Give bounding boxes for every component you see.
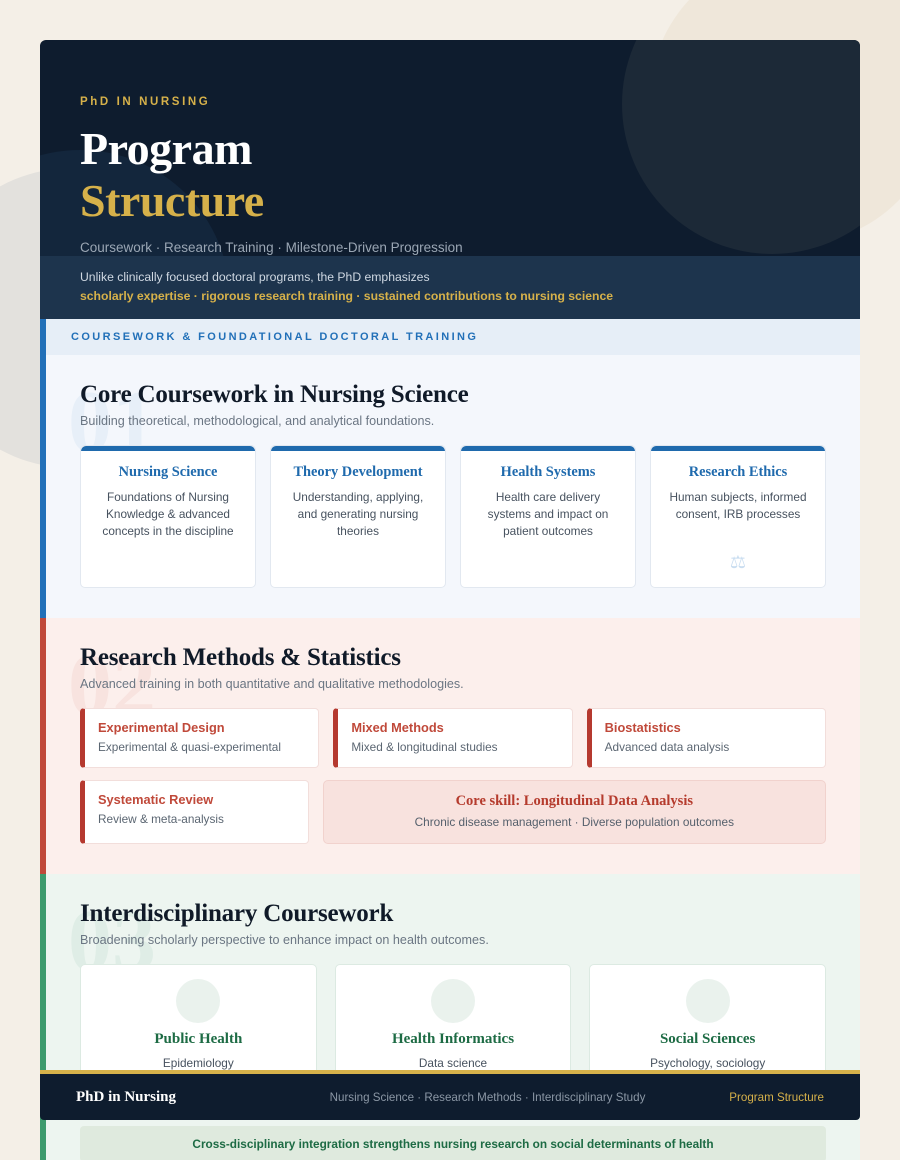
emphasis-banner: Unlike clinically focused doctoral progr… [40,256,860,319]
core-card-title: Health Systems [473,464,623,481]
core-skill-callout: Core skill: Longitudinal Data Analysis C… [323,780,826,844]
hero-eyebrow: PhD IN NURSING [80,96,820,108]
section-title-core: Core Coursework in Nursing Science [80,381,826,409]
core-card-desc: Health care delivery systems and impact … [473,489,623,540]
methods-card-mixed-methods[interactable]: Mixed Methods Mixed & longitudinal studi… [333,708,572,768]
circle-placeholder-icon [686,979,730,1023]
interdisciplinary-card-title: Social Sciences [604,1031,811,1048]
core-card-grid: Nursing Science Foundations of Nursing K… [80,445,826,588]
hero-title-line2: Structure [80,176,820,227]
scales-balance-icon: ⚖ [651,552,825,573]
methods-card-row-1: Experimental Design Experimental & quasi… [80,708,826,768]
core-card-title: Nursing Science [93,464,243,481]
section-subtitle-methods: Advanced training in both quantitative a… [80,677,826,691]
section-title-methods: Research Methods & Statistics [80,644,826,672]
interdisciplinary-card-title: Health Informatics [350,1031,557,1048]
methods-card-desc: Experimental & quasi-experimental [98,740,304,754]
section-research-methods: 02 Research Methods & Statistics Advance… [40,618,860,874]
hero-section: PhD IN NURSING Program Structure Coursew… [40,40,860,256]
methods-card-row-2: Systematic Review Review & meta-analysis… [80,780,826,844]
footer-page-label: Program Structure [674,1091,824,1104]
methods-card-biostatistics[interactable]: Biostatistics Advanced data analysis [587,708,826,768]
emphasis-banner-line1: Unlike clinically focused doctoral progr… [80,270,820,284]
methods-card-desc: Mixed & longitudinal studies [351,740,557,754]
methods-card-desc: Advanced data analysis [605,740,811,754]
footer-brand: PhD in Nursing [76,1089,301,1106]
core-card-title: Theory Development [283,464,433,481]
section-core-coursework: 01 Core Coursework in Nursing Science Bu… [40,355,860,618]
methods-card-experimental-design[interactable]: Experimental Design Experimental & quasi… [80,708,319,768]
core-card-nursing-science[interactable]: Nursing Science Foundations of Nursing K… [80,445,256,588]
methods-card-title: Mixed Methods [351,720,557,735]
circle-placeholder-icon [431,979,475,1023]
section-title-interdisciplinary: Interdisciplinary Coursework [80,900,826,928]
hero-title-line1: Program [80,124,820,174]
section-band-header: COURSEWORK & FOUNDATIONAL DOCTORAL TRAIN… [40,319,860,355]
methods-card-title: Biostatistics [605,720,811,735]
methods-card-title: Systematic Review [98,792,294,807]
core-card-desc: Human subjects, informed consent, IRB pr… [663,489,813,523]
core-card-title: Research Ethics [663,464,813,481]
circle-placeholder-icon [176,979,220,1023]
page-footer: PhD in Nursing Nursing Science · Researc… [40,1070,860,1120]
hero-subtitle: Coursework · Research Training · Milesto… [80,240,820,255]
section-subtitle-interdisciplinary: Broadening scholarly perspective to enha… [80,933,826,947]
interdisciplinary-card-title: Public Health [95,1031,302,1048]
core-card-theory-development[interactable]: Theory Development Understanding, applyi… [270,445,446,588]
section-subtitle-core: Building theoretical, methodological, an… [80,414,826,428]
footer-keywords: Nursing Science · Research Methods · Int… [301,1091,674,1104]
core-skill-desc: Chronic disease management · Diverse pop… [338,815,811,829]
core-skill-title: Core skill: Longitudinal Data Analysis [338,793,811,810]
section-band-label: COURSEWORK & FOUNDATIONAL DOCTORAL TRAIN… [71,331,860,343]
emphasis-banner-line2: scholarly expertise · rigorous research … [80,289,820,303]
methods-card-systematic-review[interactable]: Systematic Review Review & meta-analysis [80,780,309,844]
methods-card-title: Experimental Design [98,720,304,735]
methods-card-desc: Review & meta-analysis [98,812,294,826]
core-card-desc: Foundations of Nursing Knowledge & advan… [93,489,243,540]
core-card-research-ethics[interactable]: Research Ethics Human subjects, informed… [650,445,826,588]
core-card-health-systems[interactable]: Health Systems Health care delivery syst… [460,445,636,588]
page-root: PhD IN NURSING Program Structure Coursew… [0,0,900,1160]
content-sheet: PhD IN NURSING Program Structure Coursew… [40,40,860,1120]
interdisciplinary-strip: Cross-disciplinary integration strengthe… [80,1126,826,1160]
core-card-desc: Understanding, applying, and generating … [283,489,433,540]
